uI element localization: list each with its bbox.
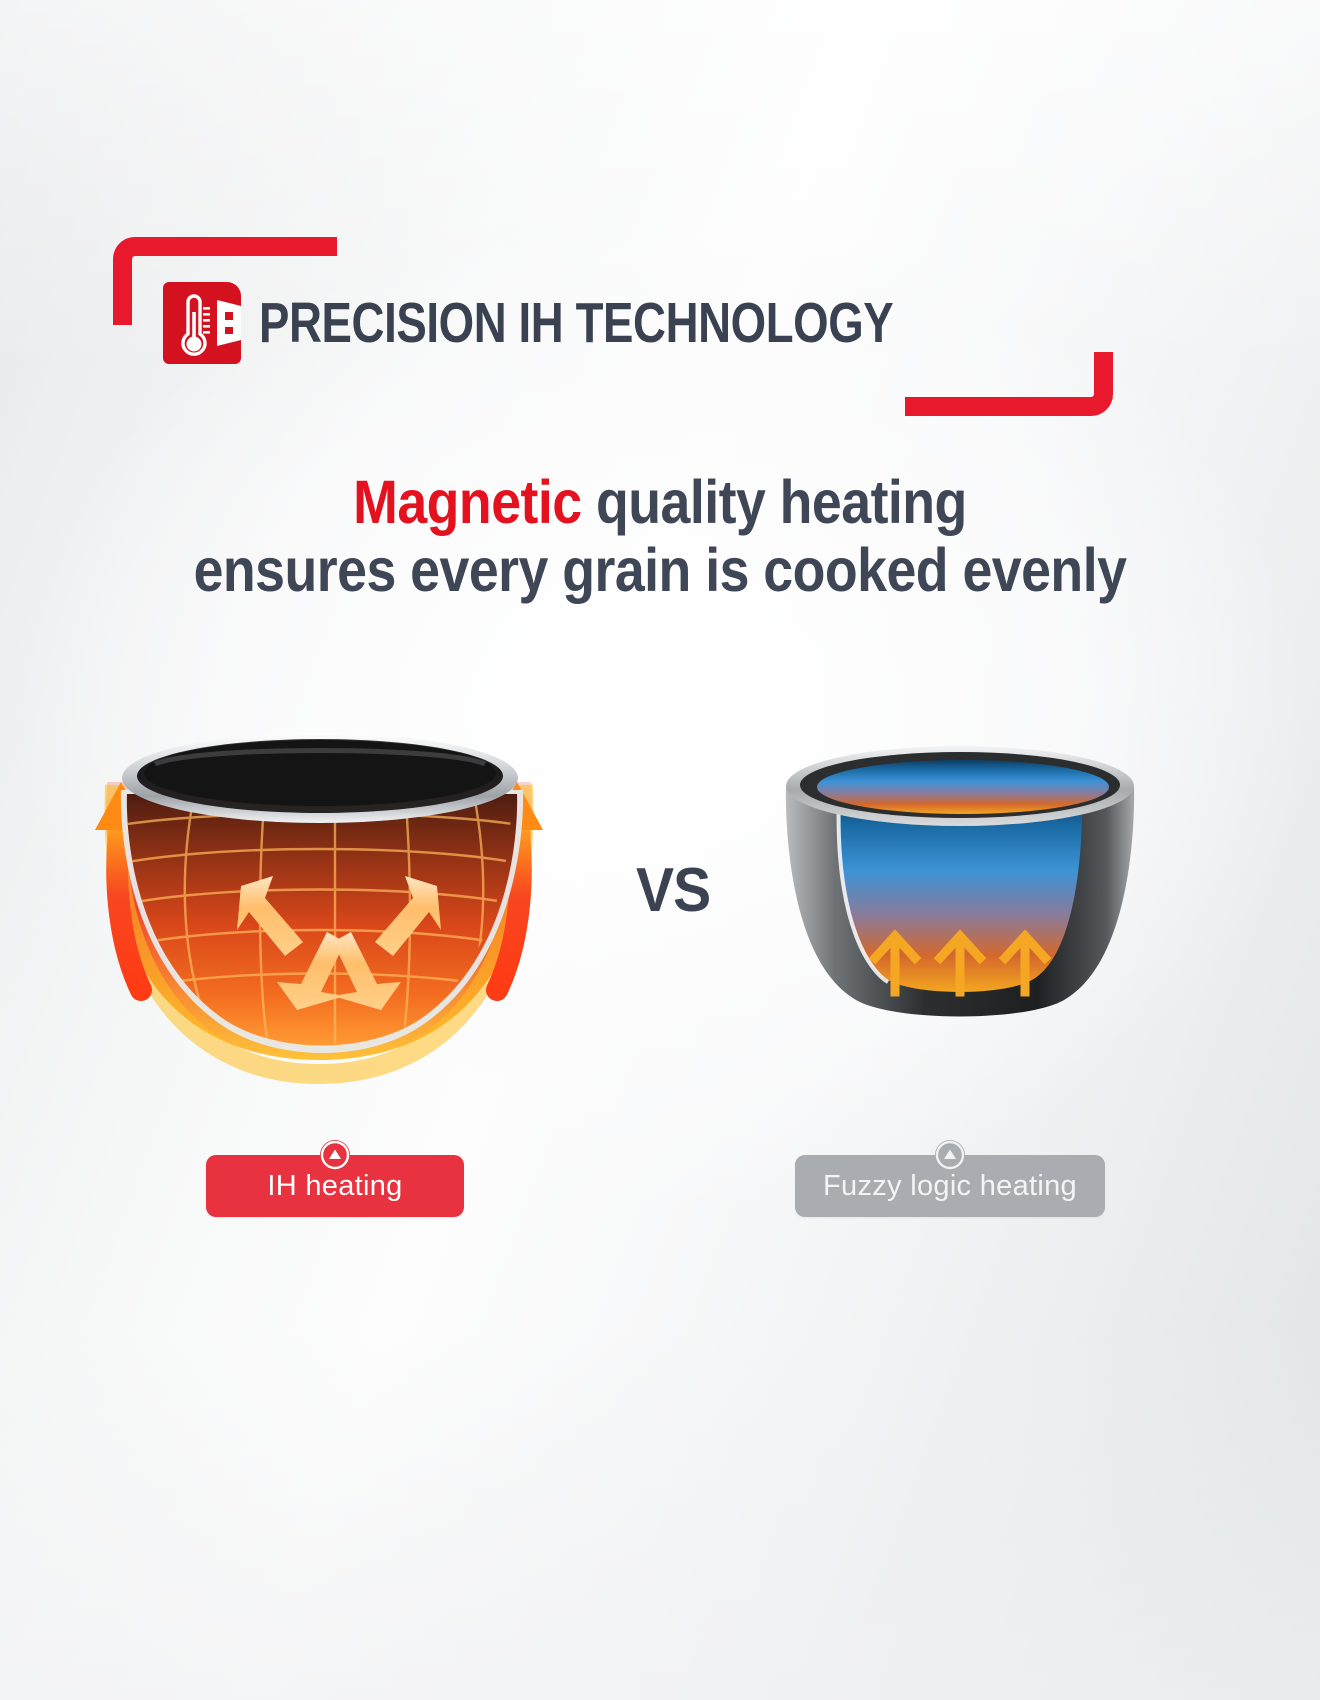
badge-fuzzy-label: Fuzzy logic heating (823, 1170, 1077, 1203)
badge-ih-heating[interactable]: IH heating (206, 1155, 464, 1217)
headline-line-1: Magnetic quality heating (79, 468, 1241, 536)
triangle-up-icon (935, 1140, 965, 1170)
infographic-root: PRECISION IH TECHNOLOGY Magnetic quality… (0, 0, 1320, 1700)
headline: Magnetic quality heating ensures every g… (0, 468, 1320, 605)
vs-label: VS (636, 855, 710, 926)
triangle-up-icon (320, 1140, 350, 1170)
headline-line-1-rest: quality heating (582, 468, 967, 536)
headline-accent-word: Magnetic (353, 468, 581, 536)
ih-pot-illustration (35, 690, 645, 1090)
thermometer-h-icon (163, 282, 241, 364)
headline-line-2: ensures every grain is cooked evenly (79, 536, 1241, 604)
page-title: PRECISION IH TECHNOLOGY (259, 295, 893, 352)
badge-fuzzy-heating[interactable]: Fuzzy logic heating (795, 1155, 1105, 1217)
badge-ih-label: IH heating (267, 1170, 402, 1203)
header-row: PRECISION IH TECHNOLOGY (163, 282, 1052, 364)
fuzzy-pot-illustration (770, 742, 1150, 1042)
